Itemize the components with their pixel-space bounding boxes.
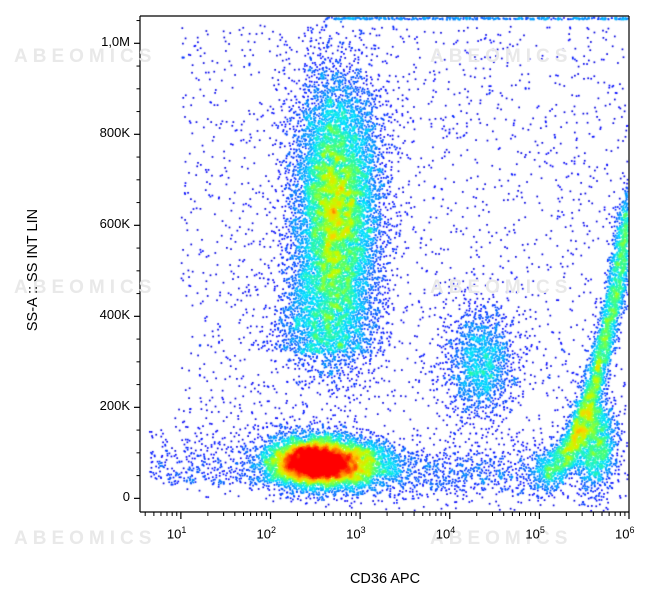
x-axis-tick-labels: 101102103104105106 [0, 0, 646, 608]
x-tick-label: 101 [167, 525, 186, 541]
x-axis-label: CD36 APC [143, 571, 627, 587]
x-tick-label: 102 [256, 525, 275, 541]
flow-cytometry-plot: ABEOMICS ABEOMICS ABEOMICS ABEOMICS ABEO… [0, 0, 646, 608]
x-tick-label: 106 [615, 525, 634, 541]
x-tick-label: 105 [525, 525, 544, 541]
x-tick-label: 103 [346, 525, 365, 541]
y-axis-label: SS-A :: SS INT LIN [25, 160, 41, 380]
x-tick-label: 104 [436, 525, 455, 541]
